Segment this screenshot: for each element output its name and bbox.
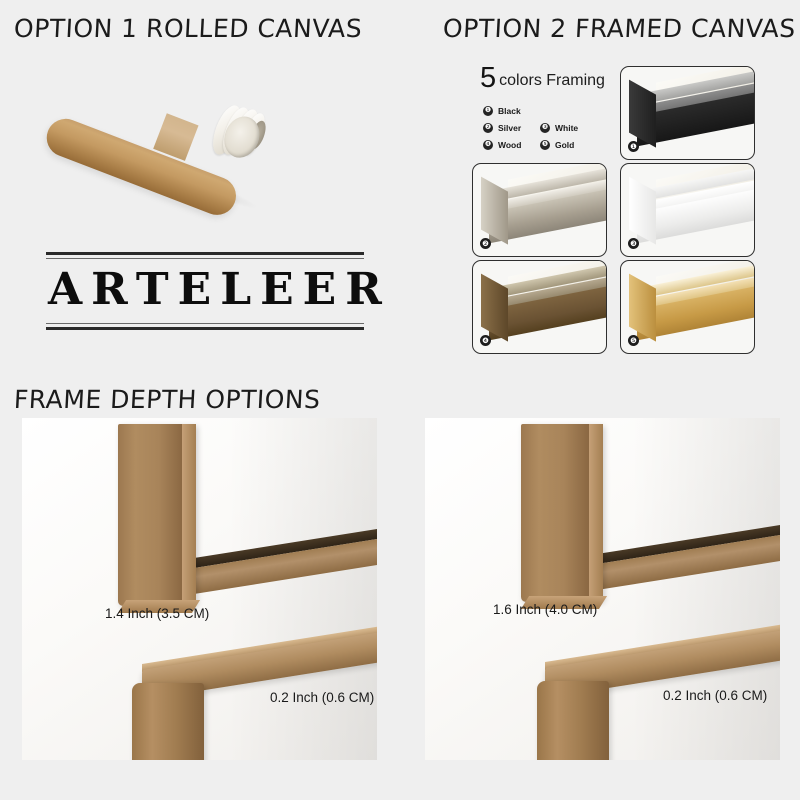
- logo-rule-bottom-thin: [46, 323, 364, 324]
- frame-corner-illustration: [473, 261, 606, 353]
- frame-left-face: [481, 274, 508, 342]
- framing-count-number: 5: [480, 62, 496, 94]
- shipping-tube: [41, 113, 241, 220]
- section-title-frame-depth: FRAME DEPTH OPTIONS: [13, 385, 321, 414]
- depth-label-edge: 0.2 Inch (0.6 CM): [270, 690, 374, 705]
- depth-label-frame: 1.6 Inch (4.0 CM): [493, 602, 597, 617]
- frame-left-face: [629, 80, 656, 148]
- legend-label: Silver: [498, 123, 521, 133]
- legend-item-white: ❸ White: [540, 123, 597, 133]
- depth-label-frame: 1.4 Inch (3.5 CM): [105, 606, 209, 621]
- infographic-canvas: OPTION 1 ROLLED CANVAS OPTION 2 FRAMED C…: [0, 0, 800, 800]
- badge-4-icon: ❹: [483, 140, 493, 150]
- logo-rule-top: [46, 252, 364, 255]
- frame-sample-card-white[interactable]: ❸: [620, 163, 755, 257]
- brand-name: ARTELEER: [46, 259, 364, 323]
- frame-color-legend: ❶ Black ❷ Silver ❸ White ❹ Wood: [483, 106, 597, 157]
- badge-1-icon: ❶: [483, 106, 493, 116]
- legend-row: ❷ Silver ❸ White: [483, 123, 597, 133]
- card-badge-1-icon: ❶: [628, 141, 639, 152]
- frame-corner-illustration: [621, 67, 754, 159]
- framing-count-heading: 5colors Framing: [480, 62, 605, 95]
- frame-sample-card-silver[interactable]: ❷: [472, 163, 607, 257]
- legend-item-wood: ❹ Wood: [483, 140, 540, 150]
- rolled-canvas-image: [40, 60, 300, 200]
- legend-item-silver: ❷ Silver: [483, 123, 540, 133]
- depth-label-edge: 0.2 Inch (0.6 CM): [663, 688, 767, 703]
- legend-row: ❹ Wood ❺ Gold: [483, 140, 597, 150]
- wall-shading: [631, 418, 780, 760]
- brand-logo: ARTELEER: [46, 252, 364, 330]
- section-title-option-1: OPTION 1 ROLLED CANVAS: [13, 14, 363, 43]
- card-badge-5-icon: ❺: [628, 335, 639, 346]
- legend-label: Gold: [555, 140, 574, 150]
- frame-depth-photo-left: 1.4 Inch (3.5 CM) 0.2 Inch (0.6 CM): [22, 418, 377, 760]
- badge-3-icon: ❸: [540, 123, 550, 133]
- frame-left-face: [629, 274, 656, 342]
- frame-corner-illustration: [621, 164, 754, 256]
- card-badge-2-icon: ❷: [480, 238, 491, 249]
- frame-sample-card-wood[interactable]: ❹: [472, 260, 607, 354]
- frame-post-edge: [182, 424, 196, 606]
- framed-canvas-panel: 5colors Framing ❶ Black ❷ Silver ❸ White: [470, 62, 795, 357]
- frame-depth-photo-right: 1.6 Inch (4.0 CM) 0.2 Inch (0.6 CM): [425, 418, 780, 760]
- card-badge-3-icon: ❸: [628, 238, 639, 249]
- frame-sample-card-gold[interactable]: ❺: [620, 260, 755, 354]
- legend-label: White: [555, 123, 578, 133]
- frame-post-edge: [589, 424, 603, 602]
- legend-label: Black: [498, 106, 521, 116]
- card-badge-4-icon: ❹: [480, 335, 491, 346]
- frame-corner-illustration: [473, 164, 606, 256]
- wall-shading: [228, 418, 377, 760]
- frame-lower-post: [132, 683, 204, 760]
- frame-left-face: [481, 177, 508, 245]
- legend-label: Wood: [498, 140, 521, 150]
- frame-sample-card-black[interactable]: ❶: [620, 66, 755, 160]
- framing-count-label: colors Framing: [499, 72, 605, 89]
- legend-item-gold: ❺ Gold: [540, 140, 597, 150]
- badge-2-icon: ❷: [483, 123, 493, 133]
- frame-lower-post: [537, 681, 609, 760]
- frame-left-face: [629, 177, 656, 245]
- logo-rule-bottom: [46, 327, 364, 330]
- badge-5-icon: ❺: [540, 140, 550, 150]
- legend-row: ❶ Black: [483, 106, 597, 116]
- frame-corner-illustration: [621, 261, 754, 353]
- section-title-option-2: OPTION 2 FRAMED CANVAS: [442, 14, 796, 43]
- legend-item-black: ❶ Black: [483, 106, 540, 116]
